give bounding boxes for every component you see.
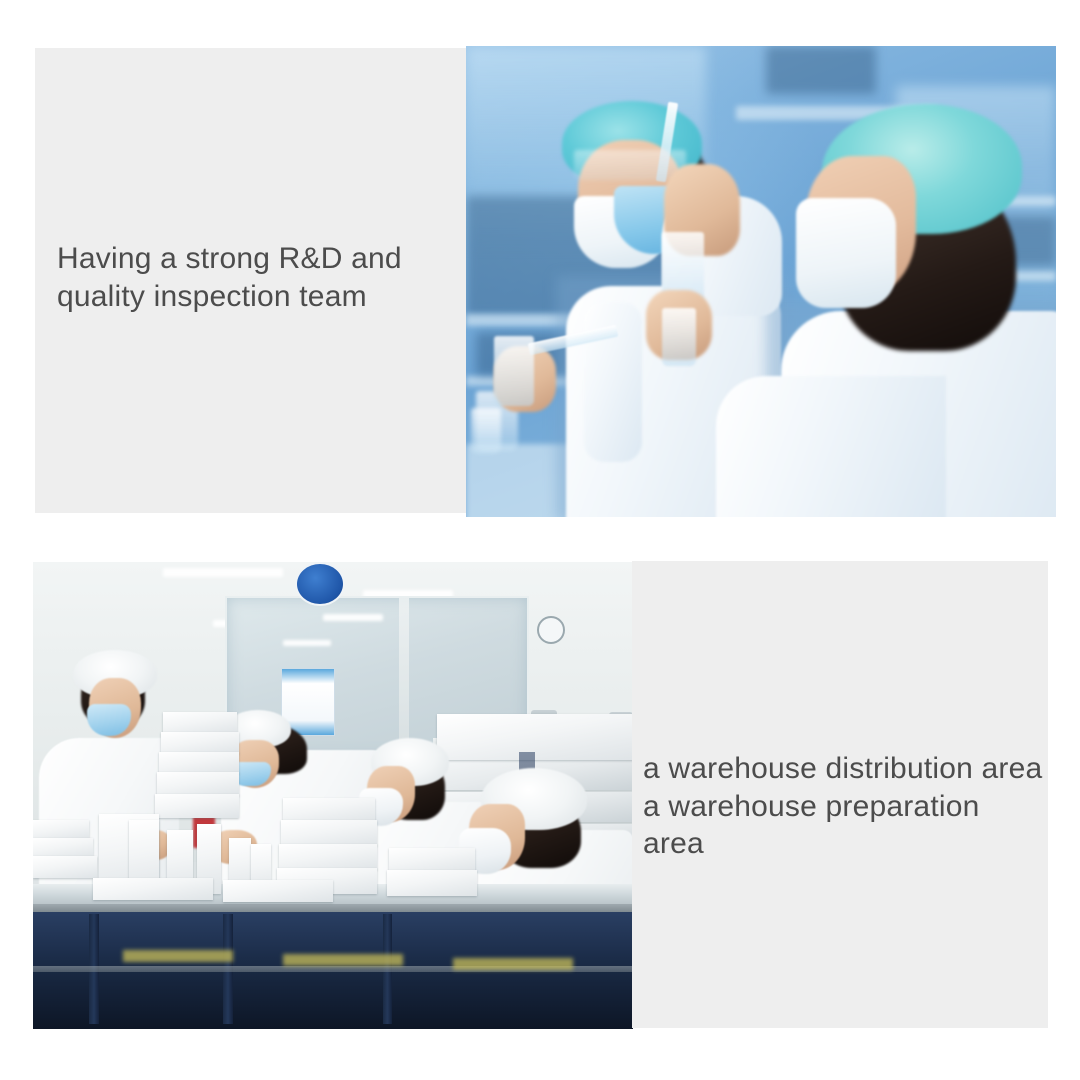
lab-vial-left xyxy=(494,336,534,406)
table-carton-d1 xyxy=(389,848,475,872)
table-carton-d2 xyxy=(387,870,477,896)
lab-worker-right-mask xyxy=(796,198,896,308)
table-carton-c3 xyxy=(279,844,377,870)
floor-marking-3 xyxy=(453,958,573,970)
table-carton-c2 xyxy=(281,820,377,846)
warehouse-caption-text: a warehouse distribution area a warehous… xyxy=(643,750,1043,863)
table-carton-a1 xyxy=(163,712,237,734)
warehouse-scene-background xyxy=(33,562,633,1029)
lab-ceiling-unit xyxy=(766,46,876,94)
window-mullion xyxy=(399,598,409,754)
floor-marking-2 xyxy=(283,954,403,966)
table-carton-a3 xyxy=(159,752,239,774)
table-carton-b1 xyxy=(33,820,89,840)
lab-beaker-2 xyxy=(471,408,501,454)
wall-clock-icon xyxy=(537,616,565,644)
table-carton-b2 xyxy=(33,838,93,858)
lab-foreground-coat xyxy=(716,376,946,517)
table-carton-a4 xyxy=(157,772,239,796)
table-carton-a5 xyxy=(155,794,239,818)
lab-vial-lower xyxy=(662,308,696,366)
safety-sign-icon xyxy=(295,562,345,606)
table-carton-c1 xyxy=(283,798,375,822)
window-light-1 xyxy=(323,614,383,621)
warehouse-photo xyxy=(33,562,633,1029)
ceiling-light-1 xyxy=(163,568,283,577)
carton-stack-top xyxy=(437,714,633,760)
table-carton-front-2 xyxy=(223,880,333,902)
table-carton-b3 xyxy=(33,856,97,878)
table-carton-a2 xyxy=(161,732,239,754)
rnd-caption-text: Having a strong R&D and quality inspecti… xyxy=(57,240,457,315)
floor-marking-1 xyxy=(123,950,233,962)
page-root: Having a strong R&D and quality inspecti… xyxy=(0,0,1080,1080)
rnd-lab-photo xyxy=(466,46,1056,517)
table-carton-front-1 xyxy=(93,878,213,900)
window-light-2 xyxy=(283,640,331,646)
lab-scene-background xyxy=(466,46,1056,517)
